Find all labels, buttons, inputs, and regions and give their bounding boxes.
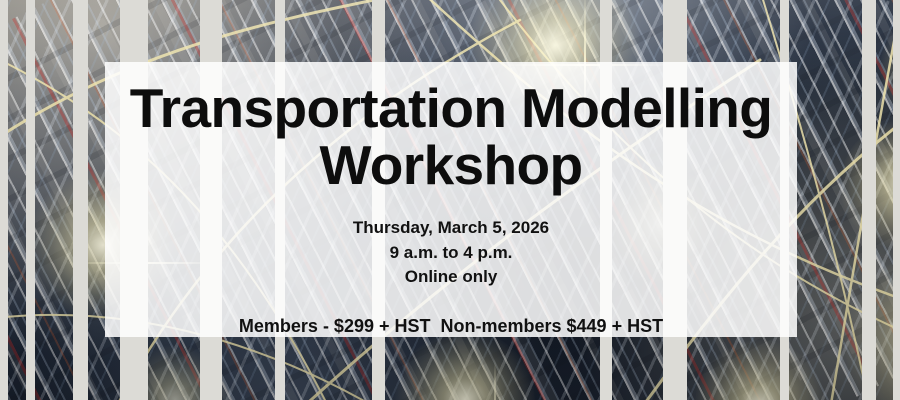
event-time: 9 a.m. to 4 p.m.: [353, 241, 549, 265]
event-banner: Transportation Modelling Workshop Thursd…: [0, 0, 900, 400]
event-format: Online only: [353, 265, 549, 289]
event-date: Thursday, March 5, 2026: [353, 216, 549, 240]
band-12: [893, 0, 900, 400]
page-title: Transportation Modelling Workshop: [121, 80, 781, 194]
band-3: [73, 0, 88, 400]
event-details: Thursday, March 5, 2026 9 a.m. to 4 p.m.…: [353, 216, 549, 288]
pricing-info: Members - $299 + HST Non-members $449 + …: [239, 316, 663, 337]
band-2: [26, 0, 35, 400]
content-panel: Transportation Modelling Workshop Thursd…: [105, 62, 797, 337]
band-11: [862, 0, 876, 400]
band-1: [0, 0, 8, 400]
